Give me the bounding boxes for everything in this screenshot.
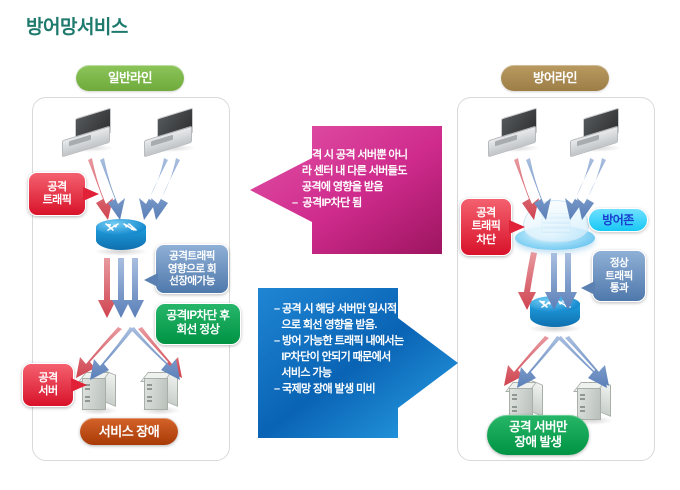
defense-zone-icon [515,200,595,252]
callout-pointer [71,378,87,392]
callout-after-ip-block: 공격IP차단 후 회선 정상 [155,303,241,345]
callout-line: 트래픽 [43,194,72,207]
callout-line-fault-possible: 공격트래픽 영향으로 회 선장애가능 [155,244,229,294]
callout-line: 선장애가능 [169,275,215,288]
callout-line: 정상 [610,257,628,270]
left-router-icon [93,218,149,258]
right-router-icon [527,295,583,335]
left-laptop-2-icon [142,113,198,153]
summary-arrow-left-text: – 공격 시 공격 서버뿐 아니 라 센터 내 다른 서버들도 공격에 영향을 … [292,148,407,212]
page-title: 방어망서비스 [26,12,128,39]
callout-line: 공격IP차단 후 [167,310,230,324]
left-panel-footer-pill: 서비스 장애 [80,418,178,445]
right-laptop-1-icon [486,113,542,153]
callout-attack-traffic-blocked: 공격 트래픽 차단 [460,198,512,256]
callout-line: 트래픽 [472,220,501,233]
callout-line: 회선 정상 [176,324,219,338]
callout-attack-traffic: 공격 트래픽 [28,172,86,216]
footer-line: 장애 발생 [515,435,562,450]
callout-line: 공격 [476,207,495,220]
callout-line: 공격 [47,181,66,194]
callout-pointer [509,220,525,234]
callout-line: 공격 [38,372,57,385]
callout-line: 차단 [476,234,495,247]
callout-pointer [83,187,99,201]
left-panel-header-pill: 일반라인 [76,65,184,91]
callout-pointer [144,273,158,287]
summary-arrow-left: – 공격 시 공격 서버뿐 아니 라 센터 내 다른 서버들도 공격에 영향을 … [250,126,442,254]
callout-line: 통과 [610,282,628,295]
left-laptop-1-icon [60,113,116,153]
summary-arrow-right-text: – 공격 시 해당 서버만 일시적 으로 회선 영향을 받음. – 방어 가능한… [274,302,404,398]
callout-line: 트래픽 [605,270,632,283]
right-panel-header-pill: 방어라인 [501,65,609,91]
footer-line: 공격 서버만 [509,420,567,435]
callout-line: 서버 [38,385,57,398]
right-laptop-2-icon [568,113,624,153]
summary-arrow-right: – 공격 시 해당 서버만 일시적 으로 회선 영향을 받음. – 방어 가능한… [258,288,458,438]
left-server-2-icon [140,368,180,414]
callout-line: 영향으로 회 [168,263,216,276]
callout-normal-traffic-pass: 정상 트래픽 통과 [592,250,646,302]
callout-line: 공격트래픽 [169,250,215,263]
callout-pointer [581,281,595,295]
callout-attack-server: 공격 서버 [22,363,74,407]
callout-defense-zone: 방어존 [588,208,648,232]
diagram-canvas: 방어망서비스 일반라인 방어라인 [0,0,680,490]
right-panel-footer-pill: 공격 서버만 장애 발생 [487,415,589,455]
